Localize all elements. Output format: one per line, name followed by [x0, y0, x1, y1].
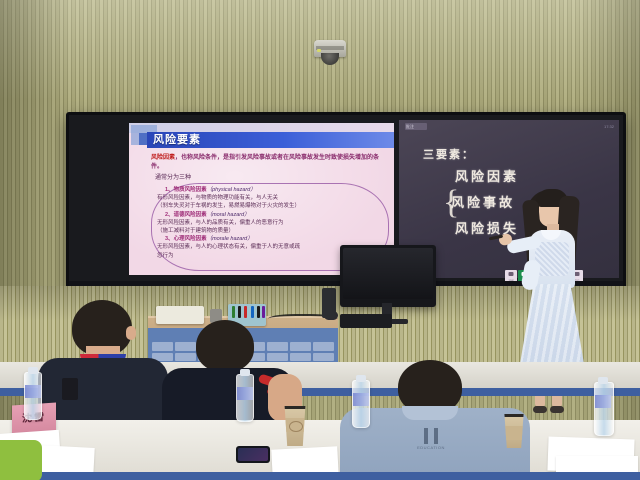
pc-unit [340, 314, 392, 328]
list-item: 1、物质风险因素（physical hazard） [157, 186, 385, 194]
bottle-label [237, 387, 253, 400]
list-item: 2、道德风险因素（moral hazard） [157, 211, 385, 219]
bottle-cap [28, 367, 38, 374]
polo-logo-text: EDUCATION [402, 445, 460, 450]
presenter-shoe-left [533, 406, 547, 413]
polo-collar [402, 406, 458, 420]
item-term: 心理风险因素 [174, 236, 207, 242]
marker-pen[interactable] [257, 306, 260, 318]
water-bottle [236, 374, 254, 422]
desktop-monitor[interactable] [340, 245, 436, 307]
bottle-label [25, 385, 41, 398]
item-term: 物质风险因素 [174, 187, 207, 193]
badge-clip-icon [62, 378, 78, 400]
phone-screen [238, 448, 268, 461]
keypad-key[interactable] [313, 342, 334, 351]
water-bottle [352, 380, 370, 428]
list-item: 3、心理风险因素（morale hazard） [157, 235, 385, 243]
bottle-label [595, 395, 611, 408]
list-detail: （施工减料对于建筑物的质量） [157, 227, 385, 235]
polo-logo: EDUCATION [402, 428, 460, 450]
bottle-cap [598, 377, 608, 384]
item-english: （physical hazard） [207, 187, 256, 193]
camera-lens-icon [321, 53, 339, 65]
item-term: 道德风险因素 [174, 212, 207, 218]
water-bottle [24, 372, 42, 420]
attendee-ear [126, 326, 136, 340]
presenter-skirt-folds [519, 284, 585, 370]
list-detail: 无形风险因素，与人的品质有关，偏重人的恶意行为 [157, 219, 385, 227]
slide-lead-text: ，也称风险条件，是指引发风险事故或者在风险事故发生时致使损失增加的条件。 [151, 155, 379, 170]
item-number: 1、 [165, 187, 174, 193]
whiteboard-line-1: 风险因素 [455, 166, 519, 185]
marker-pen[interactable] [232, 306, 235, 318]
bottle-cap [240, 369, 250, 376]
dome-camera-icon [314, 40, 346, 66]
whiteboard-mode-label: 批注 [406, 123, 414, 130]
keypad-key[interactable] [313, 353, 334, 362]
logo-bar [434, 428, 438, 444]
smartphone[interactable] [236, 446, 270, 463]
marker-pen[interactable] [244, 306, 247, 318]
logo-bar [424, 428, 428, 444]
whiteboard-heading: 三要素： [423, 146, 475, 162]
slide-lead-keyword: 风险因素 [151, 155, 175, 161]
slide-title: 风险要素 [153, 133, 201, 147]
bottle-label [353, 393, 369, 406]
presenter-shoe-right [550, 406, 564, 413]
item-number: 3、 [165, 236, 174, 242]
camera-led-icon [317, 49, 321, 52]
list-detail: 有形风险因素，与物质的物理功能有关，与人无关 [157, 194, 385, 202]
water-bottle [594, 382, 614, 436]
cup-logo-icon [289, 421, 303, 432]
whiteboard-clock: 17:32 [604, 123, 614, 130]
bottle-cap [356, 375, 366, 382]
item-number: 2、 [165, 212, 174, 218]
slide-lead-paragraph: 风险因素，也称风险条件，是指引发风险事故或者在风险事故发生时致使损失增加的条件。 [151, 154, 389, 172]
item-english: （morale hazard） [207, 236, 253, 242]
attendee-head [196, 320, 254, 372]
marker-pen[interactable] [262, 306, 265, 318]
item-english: （moral hazard） [207, 212, 250, 218]
slide-subheading: 通常分为三种 [155, 174, 191, 183]
monitor-screen [343, 248, 433, 299]
chair-green [0, 440, 42, 480]
classroom-scene: 风险要素 风险因素，也称风险条件，是指引发风险事故或者在风险事故发生时致使损失增… [0, 0, 640, 480]
marker-pen[interactable] [251, 306, 254, 318]
list-detail: （刹车失灵对于车祸的发生，易燃易爆物对于火灾的发生） [157, 202, 385, 210]
front-table-edge [0, 472, 640, 480]
wall-junction-box [322, 288, 336, 318]
presenter-bodice [535, 242, 569, 276]
marker-pen[interactable] [238, 306, 241, 318]
